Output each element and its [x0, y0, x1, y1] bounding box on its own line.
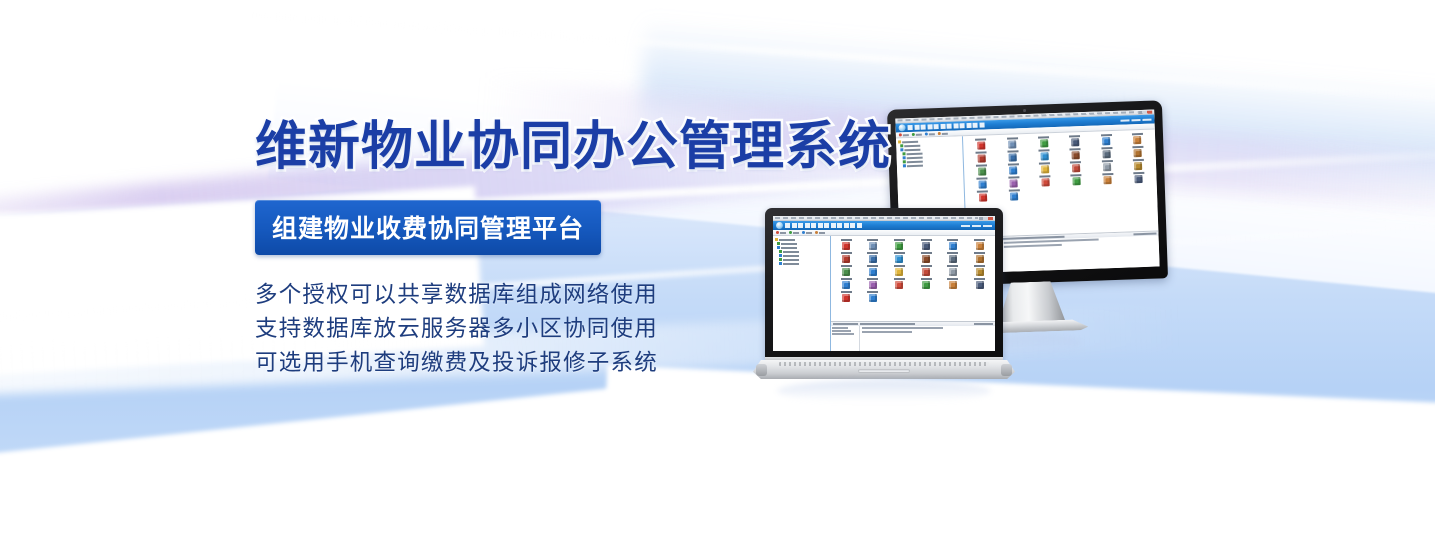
module-icon-label — [976, 164, 987, 166]
module-icon-glyph — [1010, 192, 1018, 200]
module-icon[interactable] — [966, 151, 998, 163]
module-icon-glyph — [1040, 152, 1048, 160]
module-icon-glyph — [978, 167, 986, 175]
tree-node-icon — [900, 144, 903, 147]
module-icon-label — [921, 239, 932, 241]
module-icon-label — [894, 239, 905, 241]
menu-item[interactable] — [940, 124, 945, 129]
module-icon[interactable] — [998, 163, 1030, 175]
module-icon-glyph — [1134, 149, 1142, 157]
menu-item[interactable] — [908, 125, 913, 130]
module-icon-glyph — [922, 281, 930, 289]
module-icon[interactable] — [1123, 159, 1155, 171]
module-icon-label — [975, 138, 986, 140]
module-icon[interactable] — [940, 278, 967, 289]
module-icon-label — [1071, 174, 1082, 176]
module-icon-glyph — [976, 281, 984, 289]
toolbar-icon — [899, 133, 902, 136]
header-link[interactable] — [1142, 118, 1151, 120]
module-icon[interactable] — [967, 177, 999, 189]
header-link[interactable] — [1120, 119, 1129, 121]
app-header-links — [961, 225, 992, 227]
module-icon[interactable] — [966, 265, 993, 276]
module-icon-label — [974, 265, 985, 267]
toolbar-label — [903, 134, 909, 136]
module-icon-glyph — [979, 193, 987, 201]
module-icon-label — [1070, 148, 1081, 150]
header-link[interactable] — [983, 225, 992, 227]
module-icon-glyph — [1135, 175, 1143, 183]
tree-node-label — [906, 152, 922, 155]
module-icon-glyph — [949, 255, 957, 263]
module-icon-label — [1101, 134, 1112, 136]
module-icon-label — [1102, 173, 1113, 175]
module-icon-label — [894, 252, 905, 254]
module-icon[interactable] — [1123, 172, 1155, 184]
module-icon-label — [1008, 176, 1019, 178]
module-icon-label — [1039, 162, 1050, 164]
toolbar-label — [929, 133, 935, 135]
wave-bottom-blue — [0, 425, 883, 538]
header-link[interactable] — [972, 225, 981, 227]
module-icon-label — [921, 252, 932, 254]
module-icon[interactable] — [940, 239, 967, 250]
toolbar-icon — [925, 132, 928, 135]
module-icon[interactable] — [998, 189, 1030, 201]
module-icon[interactable] — [967, 190, 999, 202]
module-icon-glyph — [976, 242, 984, 250]
module-icon-label — [947, 278, 958, 280]
tree-node-label — [907, 156, 923, 159]
module-icon[interactable] — [1029, 175, 1061, 187]
module-icon-label — [1101, 147, 1112, 149]
module-icon-glyph — [977, 141, 985, 149]
laptop-reflection — [777, 380, 991, 402]
module-icon-glyph — [1072, 164, 1080, 172]
menu-item[interactable] — [953, 123, 958, 128]
module-icon[interactable] — [1028, 149, 1060, 161]
module-icon-glyph — [1133, 136, 1141, 144]
webcam-icon — [1023, 109, 1026, 112]
module-icon-label — [974, 252, 985, 254]
menu-item[interactable] — [934, 124, 939, 129]
module-icon[interactable] — [1028, 136, 1060, 148]
module-icon-glyph — [1104, 176, 1112, 184]
tree-node-label — [902, 140, 918, 143]
module-icon[interactable] — [997, 137, 1029, 149]
module-icon-label — [1039, 175, 1050, 177]
menu-item[interactable] — [927, 124, 932, 129]
module-icon-label — [1007, 150, 1018, 152]
module-icon-glyph — [895, 242, 903, 250]
module-icon-label — [1132, 146, 1143, 148]
tree-node-icon — [903, 156, 906, 159]
menu-item[interactable] — [959, 123, 964, 128]
header-link[interactable] — [1131, 119, 1140, 121]
module-icon[interactable] — [913, 265, 940, 276]
module-icon[interactable] — [913, 278, 940, 289]
module-icon[interactable] — [966, 164, 998, 176]
module-icon-glyph — [949, 242, 957, 250]
module-icon-label — [921, 265, 932, 267]
module-icon-label — [974, 278, 985, 280]
module-icon-label — [921, 278, 932, 280]
app-header-links — [1120, 118, 1151, 121]
tree-node-label — [907, 164, 923, 167]
module-icon[interactable] — [1091, 160, 1123, 172]
tree-node-label — [907, 160, 923, 163]
module-icon[interactable] — [940, 265, 967, 276]
module-icon-glyph — [922, 255, 930, 263]
module-icon-label — [977, 177, 988, 179]
module-icon[interactable] — [966, 239, 993, 250]
app-logo-icon — [898, 124, 905, 131]
module-icon[interactable] — [1060, 161, 1092, 173]
module-icon[interactable] — [1029, 162, 1061, 174]
module-icon-label — [894, 278, 905, 280]
toolbar-button[interactable] — [938, 132, 948, 135]
tagline-badge-label: 组建物业收费协同管理平台 — [272, 215, 584, 243]
module-icon[interactable] — [913, 252, 940, 263]
module-icon-label — [1069, 135, 1080, 137]
module-icon-label — [1070, 161, 1081, 163]
promo-banner: 维新物业协同办公管理系统 组建物业收费协同管理平台 多个授权可以共享数据库组成网… — [0, 0, 1435, 538]
toolbar-icon — [912, 133, 915, 136]
module-icon-label — [976, 151, 987, 153]
module-icon-glyph — [976, 255, 984, 263]
menu-item[interactable] — [947, 124, 952, 129]
tree-node-icon — [903, 164, 906, 167]
module-icon-label — [894, 265, 905, 267]
module-icon-glyph — [1010, 179, 1018, 187]
page-title: 维新物业协同办公管理系统 — [255, 118, 895, 176]
module-icon[interactable] — [940, 252, 967, 263]
footer-content-line — [1003, 239, 1098, 244]
menu-item[interactable] — [914, 125, 919, 130]
header-link[interactable] — [961, 225, 970, 227]
module-icon-glyph — [1103, 150, 1111, 158]
module-icon[interactable] — [998, 176, 1030, 188]
wave-bottom-white-left — [0, 384, 681, 538]
toolbar-button[interactable] — [899, 133, 909, 136]
module-icon-label — [1133, 159, 1144, 161]
toolbar-button[interactable] — [912, 133, 922, 136]
menu-item[interactable] — [972, 123, 977, 128]
module-icon-glyph — [1041, 178, 1049, 186]
module-icon-label — [1038, 136, 1049, 138]
module-icon[interactable] — [966, 252, 993, 263]
module-icon-glyph — [895, 281, 903, 289]
module-icon-label — [1038, 149, 1049, 151]
module-icon-glyph — [1009, 166, 1017, 174]
toolbar-icon — [938, 132, 941, 135]
module-icon[interactable] — [997, 150, 1029, 162]
module-icon[interactable] — [1060, 148, 1092, 160]
module-icon[interactable] — [1091, 147, 1123, 159]
module-icon-label — [1101, 160, 1112, 162]
tree-node-label — [904, 144, 920, 147]
window-controls-icon — [979, 217, 993, 220]
footer-content — [1001, 236, 1159, 272]
laptop-foot-right — [1001, 364, 1012, 376]
tree-node-icon — [898, 140, 901, 143]
module-icon-label — [1132, 133, 1143, 135]
module-icon-glyph — [978, 180, 986, 188]
feature-list: 多个授权可以共享数据库组成网络使用 支持数据库放云服务器多小区协同使用 可选用手… — [255, 278, 895, 380]
module-icon-glyph — [1071, 151, 1079, 159]
module-icon-glyph — [978, 154, 986, 162]
module-icon-glyph — [949, 281, 957, 289]
footer-header-label — [974, 323, 993, 325]
module-icon-glyph — [1134, 162, 1142, 170]
module-icon-glyph — [1040, 139, 1048, 147]
module-icon-label — [947, 265, 958, 267]
module-icon[interactable] — [1122, 146, 1154, 158]
module-icon-glyph — [1102, 137, 1110, 145]
feature-line: 可选用手机查询缴费及投诉报修子系统 — [255, 346, 895, 380]
tree-node-label — [904, 148, 920, 151]
module-icon[interactable] — [966, 278, 993, 289]
module-icon-glyph — [922, 268, 930, 276]
menu-item[interactable] — [966, 123, 971, 128]
module-icon-label — [1007, 137, 1018, 139]
tree-node-icon — [902, 152, 905, 155]
module-icon-glyph — [895, 255, 903, 263]
module-icon[interactable] — [1122, 133, 1154, 145]
module-icon-label — [947, 252, 958, 254]
menu-item[interactable] — [921, 125, 926, 130]
module-icon-glyph — [1072, 177, 1080, 185]
module-icon[interactable] — [965, 138, 997, 150]
tree-node-icon — [900, 148, 903, 151]
feature-line: 支持数据库放云服务器多小区协同使用 — [255, 312, 895, 346]
module-icon-label — [1133, 172, 1144, 174]
module-icon-glyph — [1103, 163, 1111, 171]
module-icon-label — [977, 190, 988, 192]
module-icon-glyph — [922, 242, 930, 250]
module-icon-glyph — [1008, 140, 1016, 148]
module-icon[interactable] — [1092, 173, 1124, 185]
tagline-badge: 组建物业收费协同管理平台 — [255, 200, 601, 255]
module-icon-label — [947, 239, 958, 241]
module-icon[interactable] — [1059, 135, 1091, 147]
module-icon-glyph — [1009, 153, 1017, 161]
module-icon-label — [974, 239, 985, 241]
tree-node-icon — [903, 160, 906, 163]
window-controls-icon — [1138, 110, 1152, 113]
toolbar-label — [916, 133, 922, 135]
module-icon-glyph — [1041, 165, 1049, 173]
module-icon-label — [1008, 163, 1019, 165]
module-icon-glyph — [976, 268, 984, 276]
module-icon[interactable] — [1090, 134, 1122, 146]
module-icon-label — [1009, 189, 1020, 191]
module-icon-glyph — [949, 268, 957, 276]
module-icon[interactable] — [1061, 174, 1093, 186]
feature-line: 多个授权可以共享数据库组成网络使用 — [255, 278, 895, 312]
module-icon-glyph — [1071, 138, 1079, 146]
toolbar-button[interactable] — [925, 132, 935, 135]
toolbar-label — [942, 132, 948, 134]
banner-text-block: 维新物业协同办公管理系统 组建物业收费协同管理平台 多个授权可以共享数据库组成网… — [255, 118, 895, 380]
module-icon[interactable] — [913, 239, 940, 250]
module-icon-glyph — [895, 268, 903, 276]
menu-item[interactable] — [979, 122, 984, 127]
